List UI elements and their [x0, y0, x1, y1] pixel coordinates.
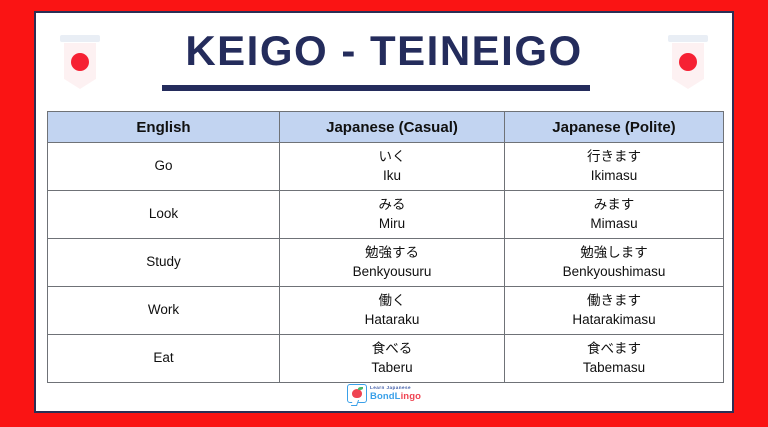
polite-japanese: 働きます	[505, 292, 723, 310]
casual-romaji: Benkyousuru	[280, 263, 504, 281]
apple-body	[352, 389, 362, 398]
page-title: KEIGO - TEINEIGO	[36, 29, 732, 73]
cell-english: Work	[48, 287, 280, 335]
casual-japanese: いく	[280, 148, 504, 166]
keigo-table: English Japanese (Casual) Japanese (Poli…	[47, 111, 724, 383]
cell-casual: 勉強する Benkyousuru	[280, 239, 505, 287]
polite-japanese: みます	[505, 196, 723, 214]
cell-polite: 働きます Hatarakimasu	[505, 287, 724, 335]
polite-japanese: 行きます	[505, 148, 723, 166]
title-underline-rule	[162, 85, 590, 91]
cell-polite: 食べます Tabemasu	[505, 335, 724, 383]
cell-polite: 勉強します Benkyoushimasu	[505, 239, 724, 287]
cell-english: Study	[48, 239, 280, 287]
polite-romaji: Mimasu	[505, 215, 723, 233]
casual-japanese: 食べる	[280, 340, 504, 358]
table-row: Eat 食べる Taberu 食べます Tabemasu	[48, 335, 724, 383]
logo-text-block: Learn Japanese BondLingo	[370, 386, 421, 401]
casual-japanese: みる	[280, 196, 504, 214]
table-row: Look みる Miru みます Mimasu	[48, 191, 724, 239]
casual-romaji: Taberu	[280, 359, 504, 377]
table-row: Work 働く Hataraku 働きます Hatarakimasu	[48, 287, 724, 335]
column-header-japanese-casual: Japanese (Casual)	[280, 112, 505, 143]
polite-romaji: Ikimasu	[505, 167, 723, 185]
cell-casual: 働く Hataraku	[280, 287, 505, 335]
table-row: Study 勉強する Benkyousuru 勉強します Benkyoushim…	[48, 239, 724, 287]
speech-bubble-tail	[351, 400, 359, 406]
table-row: Go いく Iku 行きます Ikimasu	[48, 143, 724, 191]
cell-polite: 行きます Ikimasu	[505, 143, 724, 191]
keigo-table-container: English Japanese (Casual) Japanese (Poli…	[47, 111, 723, 383]
cell-casual: 食べる Taberu	[280, 335, 505, 383]
casual-romaji: Hataraku	[280, 311, 504, 329]
logo-wordmark-part2: ingo	[401, 391, 421, 402]
column-header-english: English	[48, 112, 280, 143]
cell-polite: みます Mimasu	[505, 191, 724, 239]
cell-casual: みる Miru	[280, 191, 505, 239]
polite-japanese: 食べます	[505, 340, 723, 358]
table-header-row: English Japanese (Casual) Japanese (Poli…	[48, 112, 724, 143]
logo-wordmark: BondLingo	[370, 392, 421, 402]
poster-card: KEIGO - TEINEIGO English Japanese (Casua…	[34, 11, 734, 413]
cell-english: Look	[48, 191, 280, 239]
apple-speech-bubble-icon	[347, 384, 367, 403]
casual-japanese: 勉強する	[280, 244, 504, 262]
polite-romaji: Benkyoushimasu	[505, 263, 723, 281]
casual-japanese: 働く	[280, 292, 504, 310]
bondlingo-logo: Learn Japanese BondLingo	[36, 384, 732, 403]
casual-romaji: Iku	[280, 167, 504, 185]
polite-romaji: Hatarakimasu	[505, 311, 723, 329]
polite-japanese: 勉強します	[505, 244, 723, 262]
cell-casual: いく Iku	[280, 143, 505, 191]
apple-leaf	[358, 387, 363, 390]
cell-english: Eat	[48, 335, 280, 383]
casual-romaji: Miru	[280, 215, 504, 233]
column-header-japanese-polite: Japanese (Polite)	[505, 112, 724, 143]
poster-canvas: KEIGO - TEINEIGO English Japanese (Casua…	[0, 0, 768, 427]
logo-wordmark-part1: BondL	[370, 391, 401, 402]
cell-english: Go	[48, 143, 280, 191]
polite-romaji: Tabemasu	[505, 359, 723, 377]
